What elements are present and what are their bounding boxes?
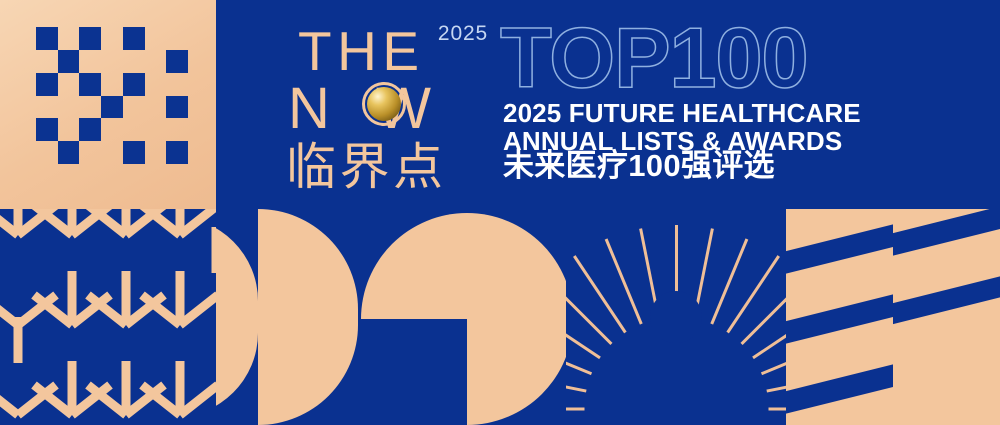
checker-cell [101,141,123,164]
sunburst-ray [768,408,786,411]
chevron-stripe [786,311,893,397]
checker-cell [79,141,101,164]
checker-cell [101,50,123,73]
chevron-right-half [893,209,1000,425]
checker-cell [36,164,58,187]
checker-cell [145,50,167,73]
subtitle-line-1: 2025 FUTURE HEALTHCARE [503,100,861,128]
circle-group [216,209,566,425]
checker-cell [166,27,188,50]
checker-cell [79,73,101,96]
checker-cell [36,118,58,141]
checker-cell [166,50,188,73]
checker-cell [145,141,167,164]
checker-cell [58,141,80,164]
checker-cell [123,118,145,141]
checker-cell [101,73,123,96]
checker-cell [101,96,123,119]
checker-cell [36,96,58,119]
chevron-stripe [893,223,1000,309]
checker-cell [145,73,167,96]
subtitle-english: 2025 FUTURE HEALTHCARE ANNUAL LISTS & AW… [503,100,861,155]
chevron-stripe [786,241,893,327]
checker-cell [166,141,188,164]
checker-cell [79,27,101,50]
sunburst-ray [566,278,612,345]
checker-cell [123,96,145,119]
checker-cell [36,141,58,164]
half-circle-shape [258,209,358,425]
checker-cell [123,27,145,50]
checker-cell [145,118,167,141]
checker-cell [79,164,101,187]
checker-cell [145,96,167,119]
chevron-left-half [786,209,893,425]
logo-now-n: N [288,76,332,141]
checker-cell [166,96,188,119]
awards-banner: THE NW 2025 临界点 TOP100 2025 FUTURE HEALT… [0,0,1000,425]
sunburst-ray [740,278,786,345]
checker-cell [79,50,101,73]
checkerboard-grid [36,27,188,187]
checkerboard-panel [0,0,216,209]
chevron-stripe [893,295,1000,425]
checker-cell [58,96,80,119]
sunburst-shape [566,209,786,425]
sunburst-ray [766,372,786,393]
sunburst-ray [566,372,586,393]
checker-cell [101,27,123,50]
checker-cell [145,27,167,50]
half-circle-edge [216,217,258,417]
logo-chinese-title: 临界点 [286,142,447,192]
sunburst-ray [566,408,584,411]
hexagon-lattice-svg [0,209,216,425]
checker-cell [36,27,58,50]
checker-cell [166,118,188,141]
checker-cell [166,73,188,96]
checker-cell [58,164,80,187]
checker-cell [123,73,145,96]
notched-circle-cutout [361,319,467,425]
checker-cell [123,164,145,187]
chevron-stripes [786,209,1000,425]
hexagon-lattice [0,209,216,425]
logo-year: 2025 [438,22,488,46]
notched-circle-shape [361,213,566,425]
checker-cell [79,96,101,119]
gold-sphere-icon [362,82,406,126]
checker-cell [101,164,123,187]
checker-cell [58,118,80,141]
logo-now-text: NW [288,80,433,138]
logo-the-text: THE [298,24,425,79]
checker-cell [58,50,80,73]
checker-cell [58,73,80,96]
checker-cell [123,50,145,73]
checker-cell [123,141,145,164]
checker-cell [58,27,80,50]
checker-cell [145,164,167,187]
checker-cell [36,50,58,73]
subtitle-chinese: 未来医疗100强评选 [503,150,775,181]
checker-cell [36,73,58,96]
checker-cell [101,118,123,141]
sunburst-core [650,291,702,343]
checker-cell [166,164,188,187]
chevron-stripe [786,381,893,425]
page-title-top100: TOP100 [500,20,807,98]
checker-cell [79,118,101,141]
decorative-band [0,209,1000,425]
